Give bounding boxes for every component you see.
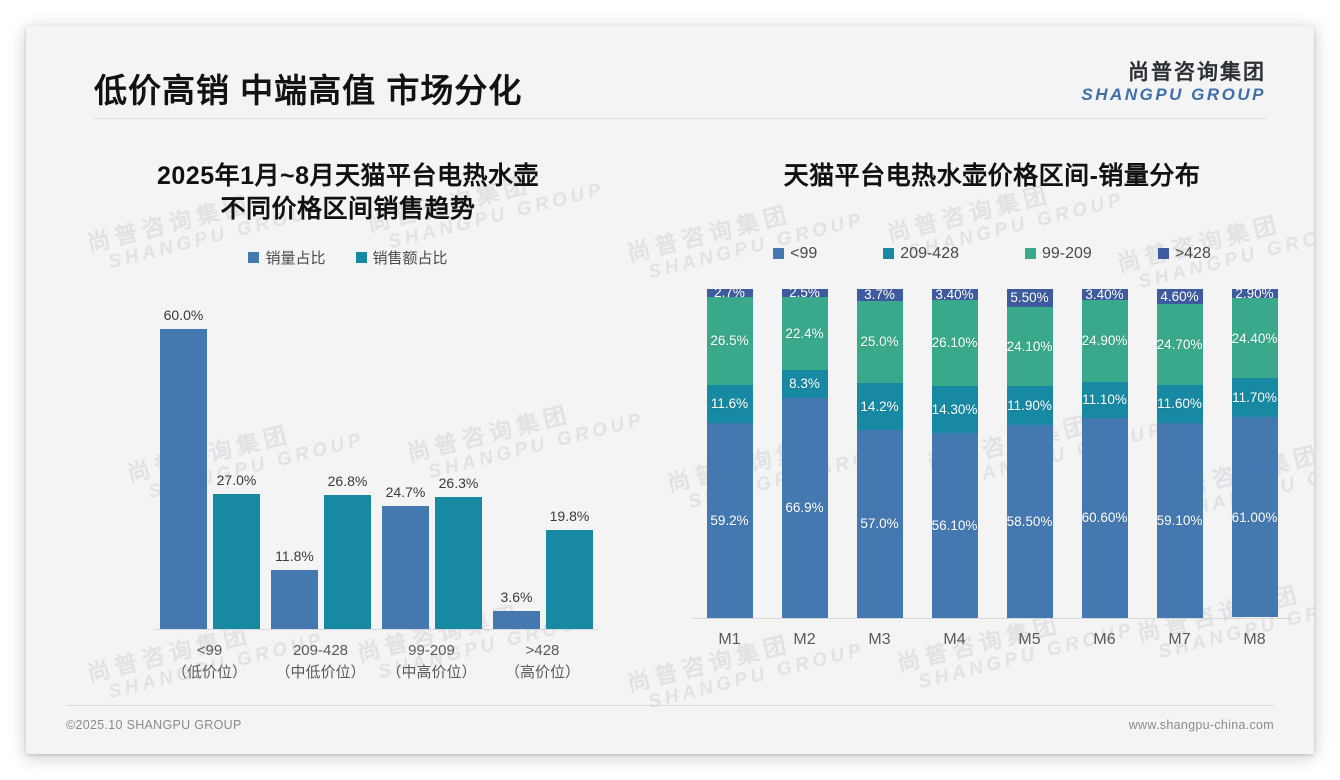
bar-销售额占比->428[interactable]: 19.8%	[546, 300, 593, 629]
stack-segment->428[interactable]: 5.50%	[1007, 289, 1053, 307]
left-chart-panel: 2025年1月~8月天猫平台电热水壶 不同价格区间销售趋势 销量占比销售额占比 …	[26, 126, 670, 726]
left-chart-x-labels: <99（低价位）209-428（中低价位）99-209（中高价位）>428（高价…	[154, 640, 598, 684]
legend-swatch-icon	[883, 248, 894, 259]
stacked-column-M4: 3.40%26.10%14.30%56.10%	[917, 289, 992, 618]
stack-segment-209-428[interactable]: 11.70%	[1232, 378, 1278, 416]
bar-rect[interactable]	[493, 611, 540, 629]
legend-item-2[interactable]: 209-428	[883, 245, 959, 263]
footer-divider	[66, 705, 1274, 706]
x-tick-range: >428	[487, 640, 598, 662]
footer-copyright: ©2025.10 SHANGPU GROUP	[66, 718, 242, 732]
stack-segment->428[interactable]: 3.40%	[932, 289, 978, 300]
segment-value-label: 4.60%	[1160, 289, 1198, 304]
segment-value-label: 57.0%	[860, 516, 898, 531]
x-tick-label-M4: M4	[917, 631, 992, 649]
bar-group: 11.8%26.8%	[265, 300, 376, 629]
segment-value-label: 11.6%	[711, 396, 748, 411]
segment-value-label: 25.0%	[860, 334, 898, 349]
stack-segment-99-209[interactable]: 26.10%	[932, 300, 978, 386]
stacked-column-M6: 3.40%24.90%11.10%60.60%	[1067, 289, 1142, 618]
stack: 3.40%26.10%14.30%56.10%	[932, 289, 978, 618]
left-chart-title: 2025年1月~8月天猫平台电热水壶 不同价格区间销售趋势	[26, 126, 670, 225]
x-tick-range: 99-209	[376, 640, 487, 662]
segment-value-label: 26.10%	[932, 335, 978, 350]
segment-value-label: 58.50%	[1007, 514, 1053, 529]
right-chart-x-labels: M1M2M3M4M5M6M7M8	[692, 631, 1292, 649]
segment-value-label: 66.9%	[785, 500, 823, 515]
bar-销量占比-209-428[interactable]: 11.8%	[271, 300, 318, 629]
left-chart-legend: 销量占比销售额占比	[26, 247, 670, 268]
bar-group: 60.0%27.0%	[154, 300, 265, 629]
segment-value-label: 5.50%	[1010, 290, 1048, 305]
stack-segment-<99[interactable]: 56.10%	[932, 433, 978, 618]
segment-value-label: 61.00%	[1232, 510, 1278, 525]
x-tick-label-M5: M5	[992, 631, 1067, 649]
x-tick-label-M3: M3	[842, 631, 917, 649]
stack-segment-209-428[interactable]: 11.90%	[1007, 386, 1053, 425]
segment-value-label: 59.10%	[1157, 513, 1203, 528]
bar-rect[interactable]	[324, 495, 371, 629]
stacked-column-M1: 2.7%26.5%11.6%59.2%	[692, 289, 767, 618]
x-tick-range: 209-428	[265, 640, 376, 662]
segment-value-label: 26.5%	[710, 333, 748, 348]
bar-rect[interactable]	[382, 506, 429, 629]
bar-rect[interactable]	[435, 497, 482, 629]
right-chart-legend: <99209-42899-209>428	[670, 245, 1314, 263]
stack-segment-<99[interactable]: 60.60%	[1082, 418, 1128, 617]
left-chart-title-line1: 2025年1月~8月天猫平台电热水壶	[26, 160, 670, 193]
legend-item-1[interactable]: <99	[773, 245, 817, 263]
x-tick-range: <99	[154, 640, 265, 662]
stack: 4.60%24.70%11.60%59.10%	[1157, 289, 1203, 618]
legend-label: 销售额占比	[373, 247, 448, 268]
legend-item-4[interactable]: >428	[1158, 245, 1211, 263]
x-tick-sublabel: （中高价位）	[376, 662, 487, 684]
legend-swatch-icon	[1158, 248, 1169, 259]
stack-segment-99-209[interactable]: 24.40%	[1232, 298, 1278, 378]
stack-segment-99-209[interactable]: 25.0%	[857, 301, 903, 383]
page-title: 低价高销 中端高值 市场分化	[94, 64, 522, 112]
x-tick-label: 99-209（中高价位）	[376, 640, 487, 684]
stack-segment-99-209[interactable]: 22.4%	[782, 297, 828, 371]
x-tick-label-M6: M6	[1067, 631, 1142, 649]
stack-segment->428[interactable]: 3.40%	[1082, 289, 1128, 300]
stack-segment-99-209[interactable]: 24.70%	[1157, 304, 1203, 385]
legend-swatch-icon	[356, 252, 367, 263]
segment-value-label: 11.70%	[1232, 390, 1277, 405]
x-tick-label-M2: M2	[767, 631, 842, 649]
bar-rect[interactable]	[271, 570, 318, 629]
bar-group: 24.7%26.3%	[376, 300, 487, 629]
slide-card: 尚普咨询集团SHANGPU GROUP尚普咨询集团SHANGPU GROUP尚普…	[26, 26, 1314, 754]
x-tick-label-M1: M1	[692, 631, 767, 649]
stack-segment-<99[interactable]: 57.0%	[857, 430, 903, 618]
x-tick-label-M7: M7	[1142, 631, 1217, 649]
stacked-column-M2: 2.5%22.4%8.3%66.9%	[767, 289, 842, 618]
left-chart-plot: 60.0%27.0%11.8%26.8%24.7%26.3%3.6%19.8% …	[26, 300, 670, 630]
stack-segment->428[interactable]: 3.7%	[857, 289, 903, 301]
stack-segment-99-209[interactable]: 24.90%	[1082, 300, 1128, 382]
stacked-column-M8: 2.90%24.40%11.70%61.00%	[1217, 289, 1292, 618]
bar-销售额占比-<99[interactable]: 27.0%	[213, 300, 260, 629]
right-chart-panel: 天猫平台电热水壶价格区间-销量分布 <99209-42899-209>428 2…	[670, 126, 1314, 726]
stack: 3.7%25.0%14.2%57.0%	[857, 289, 903, 618]
segment-value-label: 11.60%	[1157, 396, 1202, 411]
stack-segment-209-428[interactable]: 11.6%	[707, 385, 753, 423]
stack-segment-<99[interactable]: 66.9%	[782, 398, 828, 618]
right-chart-title: 天猫平台电热水壶价格区间-销量分布	[670, 126, 1314, 193]
stack: 2.7%26.5%11.6%59.2%	[707, 289, 753, 618]
segment-value-label: 24.40%	[1232, 331, 1278, 346]
bar-rect[interactable]	[546, 530, 593, 629]
segment-value-label: 60.60%	[1082, 510, 1128, 525]
stack-segment-<99[interactable]: 58.50%	[1007, 425, 1053, 617]
segment-value-label: 14.30%	[932, 402, 978, 417]
bar-销量占比->428[interactable]: 3.6%	[493, 300, 540, 629]
legend-label: 销量占比	[265, 247, 325, 268]
bar-value-label: 27.0%	[192, 472, 282, 488]
right-chart-plot: 2.7%26.5%11.6%59.2%2.5%22.4%8.3%66.9%3.7…	[670, 289, 1314, 619]
legend-label: 99-209	[1042, 245, 1092, 263]
x-tick-label-M8: M8	[1217, 631, 1292, 649]
bar-group: 3.6%19.8%	[487, 300, 598, 629]
legend-item-3[interactable]: 99-209	[1025, 245, 1092, 263]
charts-container: 2025年1月~8月天猫平台电热水壶 不同价格区间销售趋势 销量占比销售额占比 …	[26, 126, 1314, 726]
x-tick-sublabel: （中低价位）	[265, 662, 376, 684]
right-chart-x-axis	[692, 618, 1292, 619]
right-chart-columns: 2.7%26.5%11.6%59.2%2.5%22.4%8.3%66.9%3.7…	[692, 289, 1292, 618]
stack-segment-99-209[interactable]: 26.5%	[707, 297, 753, 384]
segment-value-label: 24.70%	[1157, 337, 1203, 352]
bar-销量占比-<99[interactable]: 60.0%	[160, 300, 207, 629]
logo-chinese-text: 尚普咨询集团	[1081, 62, 1266, 83]
segment-value-label: 22.4%	[785, 326, 823, 341]
stack-segment-99-209[interactable]: 24.10%	[1007, 307, 1053, 386]
stack: 2.90%24.40%11.70%61.00%	[1232, 289, 1278, 618]
x-tick-label: 209-428（中低价位）	[265, 640, 376, 684]
legend-item-2[interactable]: 销售额占比	[356, 247, 448, 268]
x-tick-label: >428（高价位）	[487, 640, 598, 684]
stacked-column-M7: 4.60%24.70%11.60%59.10%	[1142, 289, 1217, 618]
left-chart-title-line2: 不同价格区间销售趋势	[26, 193, 670, 226]
x-tick-label: <99（低价位）	[154, 640, 265, 684]
stacked-column-M5: 5.50%24.10%11.90%58.50%	[992, 289, 1067, 618]
segment-value-label: 59.2%	[710, 513, 748, 528]
bar-销量占比-99-209[interactable]: 24.7%	[382, 300, 429, 629]
header-divider	[94, 118, 1266, 119]
bar-销售额占比-99-209[interactable]: 26.3%	[435, 300, 482, 629]
legend-swatch-icon	[773, 248, 784, 259]
segment-value-label: 24.10%	[1007, 339, 1053, 354]
stack-segment-209-428[interactable]: 8.3%	[782, 370, 828, 397]
stack-segment->428[interactable]: 4.60%	[1157, 289, 1203, 304]
x-tick-sublabel: （低价位）	[154, 662, 265, 684]
stacked-column-M3: 3.7%25.0%14.2%57.0%	[842, 289, 917, 618]
left-chart-groups: 60.0%27.0%11.8%26.8%24.7%26.3%3.6%19.8%	[154, 300, 598, 629]
segment-value-label: 11.10%	[1082, 392, 1127, 407]
stack-segment->428[interactable]: 2.5%	[782, 289, 828, 297]
legend-label: >428	[1175, 245, 1211, 263]
stack: 2.5%22.4%8.3%66.9%	[782, 289, 828, 618]
segment-value-label: 24.90%	[1082, 333, 1128, 348]
logo-english-text: SHANGPU GROUP	[1081, 86, 1266, 103]
x-tick-sublabel: （高价位）	[487, 662, 598, 684]
legend-swatch-icon	[1025, 248, 1036, 259]
footer-website[interactable]: www.shangpu-china.com	[1129, 718, 1274, 732]
stack: 5.50%24.10%11.90%58.50%	[1007, 289, 1053, 618]
bar-销售额占比-209-428[interactable]: 26.8%	[324, 300, 371, 629]
stack-segment-209-428[interactable]: 11.60%	[1157, 385, 1203, 423]
slide-header: 低价高销 中端高值 市场分化 尚普咨询集团 SHANGPU GROUP	[26, 26, 1314, 118]
segment-value-label: 11.90%	[1007, 398, 1052, 413]
legend-swatch-icon	[248, 252, 259, 263]
stack-segment-209-428[interactable]: 14.30%	[932, 386, 978, 433]
stack: 3.40%24.90%11.10%60.60%	[1082, 289, 1128, 618]
bar-value-label: 26.3%	[414, 475, 504, 491]
segment-value-label: 56.10%	[932, 518, 978, 533]
stack-segment-<99[interactable]: 59.10%	[1157, 423, 1203, 617]
legend-item-1[interactable]: 销量占比	[248, 247, 325, 268]
bar-value-label: 19.8%	[525, 508, 615, 524]
stack-segment-<99[interactable]: 61.00%	[1232, 417, 1278, 618]
left-chart-x-axis	[154, 629, 598, 630]
stack-segment-209-428[interactable]: 11.10%	[1082, 382, 1128, 419]
stack-segment-<99[interactable]: 59.2%	[707, 423, 753, 618]
legend-label: <99	[790, 245, 817, 263]
segment-value-label: 8.3%	[789, 376, 820, 391]
brand-logo: 尚普咨询集团 SHANGPU GROUP	[1081, 62, 1266, 103]
legend-label: 209-428	[900, 245, 959, 263]
stack-segment-209-428[interactable]: 14.2%	[857, 383, 903, 430]
segment-value-label: 14.2%	[860, 399, 898, 414]
stack-segment->428[interactable]: 2.7%	[707, 289, 753, 298]
stack-segment->428[interactable]: 2.90%	[1232, 289, 1278, 299]
slide-footer: ©2025.10 SHANGPU GROUP www.shangpu-china…	[66, 714, 1274, 736]
